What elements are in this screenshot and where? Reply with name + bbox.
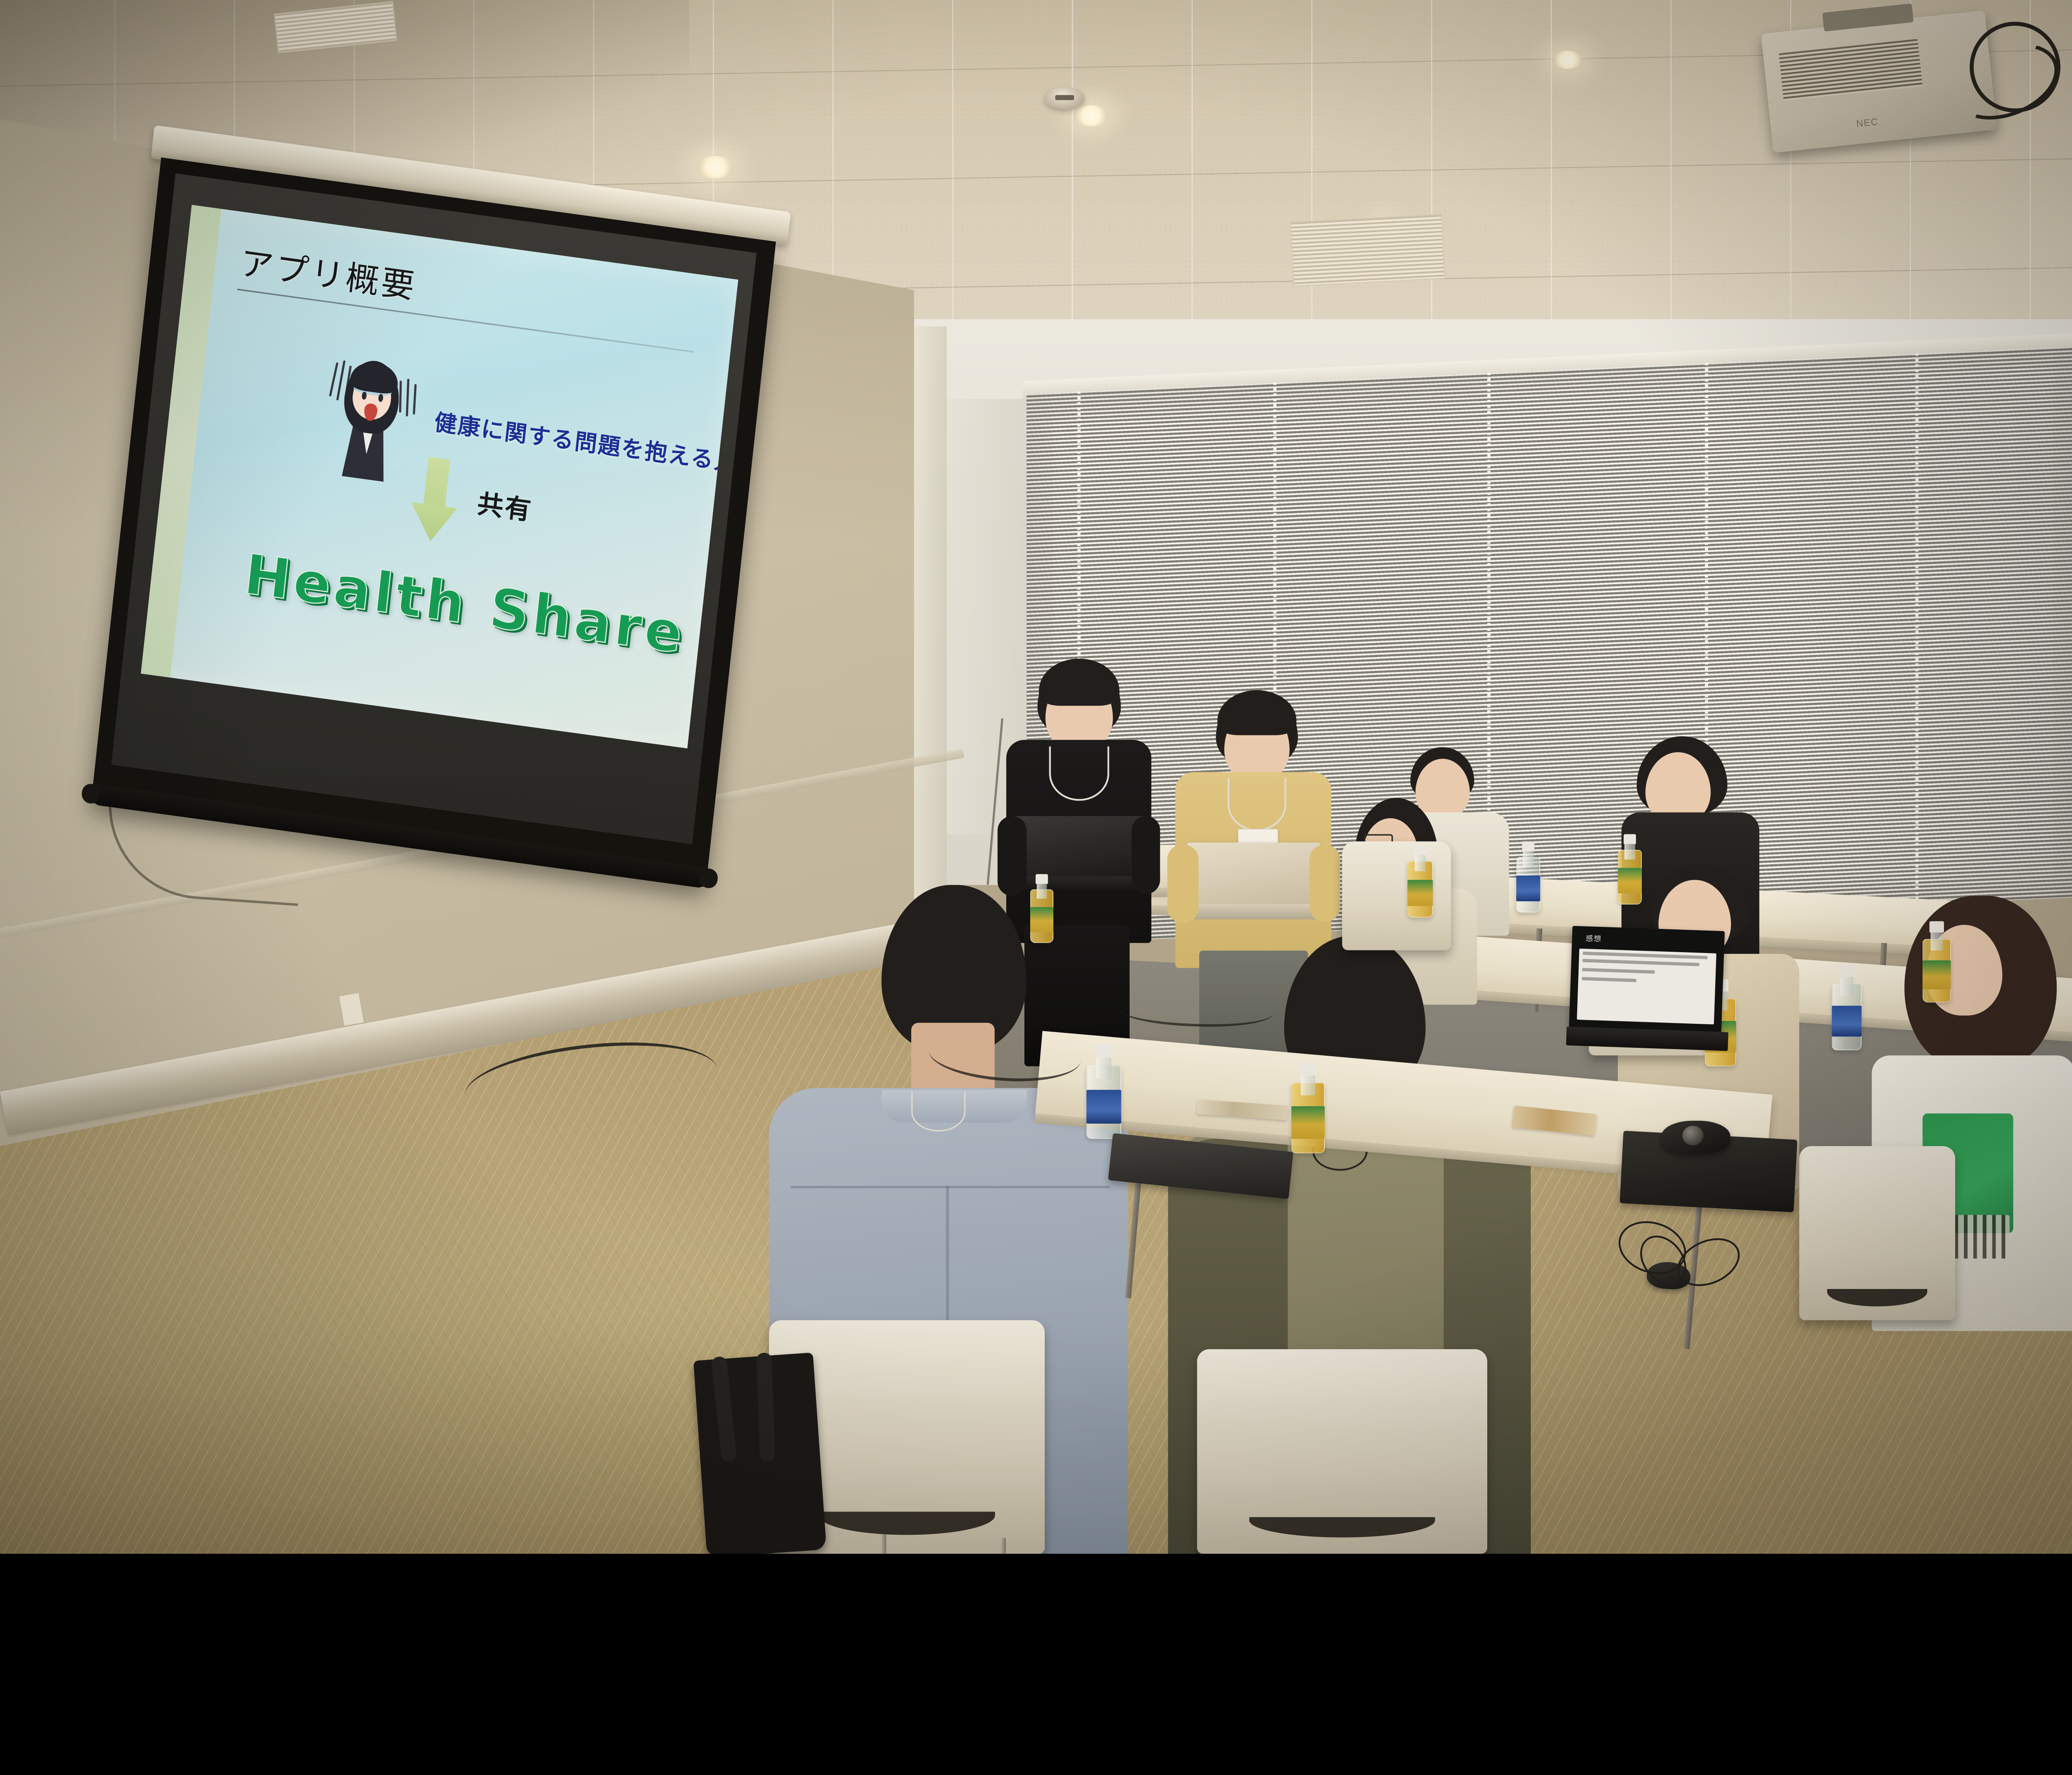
laptop-slide-line <box>1583 951 1707 959</box>
projected-slide: アプリ概要 健康に関する問題を抱える人々 <box>141 205 738 748</box>
bottle-water[interactable] <box>1832 965 1862 1050</box>
bottle-water[interactable] <box>1516 842 1540 913</box>
chair-handle-slot <box>1827 1289 1927 1306</box>
bottle-tea[interactable] <box>1407 845 1433 918</box>
bottle-tea[interactable] <box>1922 921 1951 1002</box>
chair-leg <box>881 1534 886 1554</box>
bottle-cap <box>1929 921 1944 932</box>
bottle-cap <box>1095 1045 1113 1058</box>
bottle-label <box>1832 1006 1862 1037</box>
shock-line <box>413 384 416 415</box>
presenter-right-arm <box>1310 845 1340 922</box>
trackball-ball-icon[interactable] <box>1682 1126 1704 1145</box>
bottle-neck <box>1930 929 1943 950</box>
slide-app-logo: Health Share <box>241 542 689 666</box>
shock-line <box>399 381 402 413</box>
bottle-label <box>1922 960 1951 990</box>
attendee-lanyard <box>911 1092 966 1132</box>
laptop-slide-line <box>1582 968 1655 974</box>
worried-person-icon <box>320 352 423 484</box>
bottle-tea[interactable] <box>1030 874 1053 943</box>
laptop-slide-line <box>1582 977 1636 982</box>
bottle-label <box>1618 868 1642 893</box>
bottle-water[interactable] <box>1087 1045 1121 1139</box>
presenter-right-lanyard <box>1227 778 1286 831</box>
meeting-room-scene: NEC アプリ概要 <box>0 0 2072 1554</box>
bottle-label <box>1407 880 1433 906</box>
bottle-label <box>1087 1090 1121 1124</box>
presenter-left-bangs <box>1039 659 1119 706</box>
projector-brand-label: NEC <box>1856 116 1879 130</box>
laptop-slide-line <box>1583 959 1699 966</box>
air-vent-icon <box>1290 214 1445 287</box>
shock-line <box>329 362 339 397</box>
bottle-label <box>1291 1106 1325 1139</box>
presenter-left-lanyard <box>1049 746 1109 800</box>
downlight-icon <box>1552 51 1583 69</box>
presenter-right-arm <box>1167 845 1198 923</box>
audience-laptop-screen[interactable]: 感想 <box>1569 926 1725 1033</box>
chair-handle-slot <box>1249 1517 1435 1537</box>
downlight-icon <box>697 156 734 178</box>
blind-cord[interactable] <box>1915 353 1919 904</box>
bottle-cap <box>1414 845 1427 856</box>
shirt-yoke-seam <box>791 1186 1110 1188</box>
projection-screen: アプリ概要 健康に関する問題を抱える人々 <box>91 157 776 887</box>
bottle-cap <box>1522 842 1535 851</box>
presenter-right-laptop-base <box>1189 904 1319 919</box>
presenter-left-laptop[interactable] <box>1010 816 1144 880</box>
bottle-cap <box>1624 834 1636 844</box>
chair-handle-slot <box>818 1512 995 1535</box>
bottle-tea[interactable] <box>1291 1063 1325 1154</box>
laptop-slide-body <box>1577 948 1716 1024</box>
downlight-icon <box>1074 105 1109 126</box>
down-arrow-icon <box>407 455 462 544</box>
bottle-cap <box>1036 874 1048 884</box>
chair-leg <box>1001 1538 1006 1554</box>
chair-back-left[interactable] <box>1342 842 1451 950</box>
chair-front-center[interactable] <box>1197 1349 1487 1554</box>
slide-title-rule <box>237 289 694 353</box>
slide-arrow-label: 共有 <box>476 482 535 527</box>
bottle-cap <box>1839 965 1854 977</box>
bottle-label <box>1030 907 1053 932</box>
bottle-tea[interactable] <box>1618 834 1642 904</box>
arrow-shaft <box>423 457 450 510</box>
chair-right-rear[interactable] <box>1799 1146 1955 1320</box>
presenter-right-laptop[interactable] <box>1187 842 1320 907</box>
laptop-slide-title: 感想 <box>1585 932 1602 943</box>
presenter-right-bangs <box>1218 690 1297 735</box>
bottle-label <box>1516 875 1540 901</box>
arrow-head <box>407 502 457 544</box>
slide-caption: 健康に関する問題を抱える人々 <box>433 404 738 481</box>
bottle-neck <box>1096 1054 1111 1079</box>
presenter-left-arm <box>1132 816 1160 894</box>
presenter-left-arm <box>997 816 1026 896</box>
smoke-detector-icon <box>1045 87 1084 109</box>
slide-title: アプリ概要 <box>238 236 419 308</box>
shock-line <box>406 379 409 416</box>
bottle-cap <box>1300 1063 1317 1076</box>
bottle-neck <box>1523 849 1533 867</box>
